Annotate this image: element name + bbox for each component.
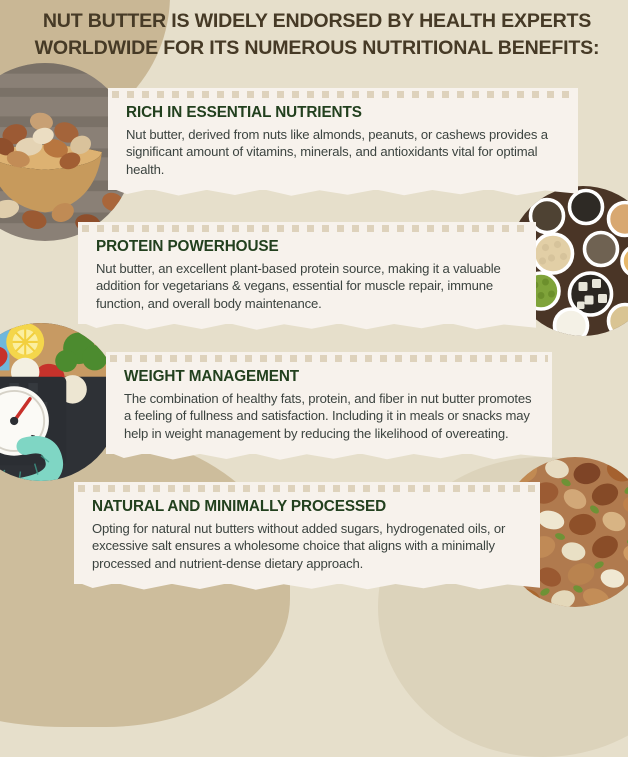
- poster-title: NUT BUTTER IS WIDELY ENDORSED BY HEALTH …: [14, 8, 620, 61]
- benefit-heading: PROTEIN POWERHOUSE: [96, 238, 518, 256]
- benefit-card-natural-and-minimally-processed: NATURAL AND MINIMALLY PROCESSED Opting f…: [74, 482, 540, 584]
- benefit-heading: WEIGHT MANAGEMENT: [124, 368, 534, 386]
- benefit-body: Opting for natural nut butters without a…: [92, 520, 522, 572]
- weighing-scale-vegetables-photo: 110 10: [0, 323, 120, 481]
- benefit-heading: NATURAL AND MINIMALLY PROCESSED: [92, 498, 522, 516]
- benefit-heading: RICH IN ESSENTIAL NUTRIENTS: [126, 104, 560, 122]
- benefit-card-protein-powerhouse: PROTEIN POWERHOUSE Nut butter, an excell…: [78, 222, 536, 324]
- benefit-card-rich-in-essential-nutrients: RICH IN ESSENTIAL NUTRIENTS Nut butter, …: [108, 88, 578, 190]
- benefit-body: Nut butter, derived from nuts like almon…: [126, 126, 560, 178]
- infographic-poster: NUT BUTTER IS WIDELY ENDORSED BY HEALTH …: [0, 0, 628, 607]
- benefit-card-weight-management: WEIGHT MANAGEMENT The combination of hea…: [106, 352, 552, 454]
- poster-title-line-2: WORLDWIDE FOR ITS NUMEROUS NUTRITIONAL B…: [14, 35, 620, 62]
- poster-title-line-1: NUT BUTTER IS WIDELY ENDORSED BY HEALTH …: [14, 8, 620, 35]
- benefit-body: The combination of healthy fats, protein…: [124, 390, 534, 442]
- benefit-body: Nut butter, an excellent plant-based pro…: [96, 260, 518, 312]
